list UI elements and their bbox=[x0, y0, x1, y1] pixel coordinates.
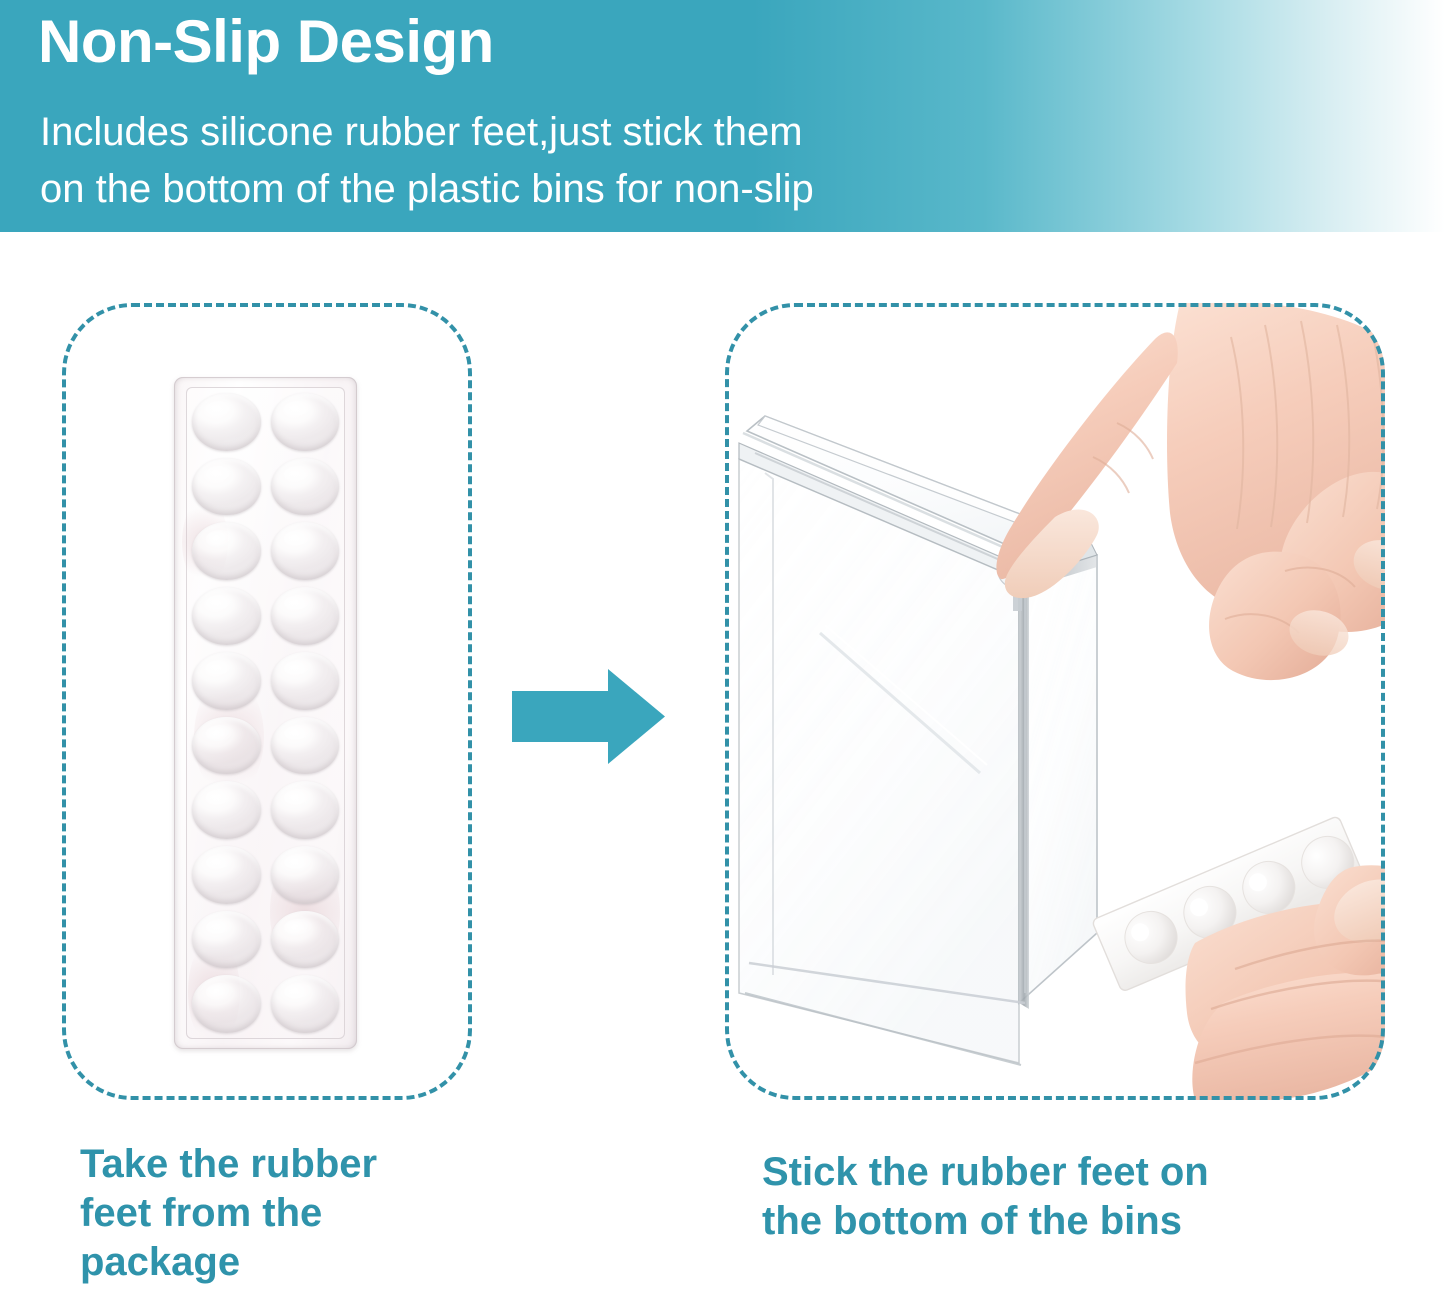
rubber-foot bbox=[271, 587, 340, 645]
rubber-foot bbox=[192, 846, 261, 904]
step-1-caption-line-3: package bbox=[80, 1238, 510, 1287]
step-1-caption-line-2: feet from the bbox=[80, 1189, 510, 1238]
rubber-foot bbox=[192, 975, 261, 1033]
rubber-foot bbox=[192, 781, 261, 839]
header-subtitle-line-1: Includes silicone rubber feet,just stick… bbox=[40, 104, 814, 161]
step-1-caption: Take the rubber feet from the package bbox=[80, 1140, 510, 1286]
step-2-caption-line-1: Stick the rubber feet on bbox=[762, 1148, 1402, 1197]
rubber-foot bbox=[192, 717, 261, 775]
rubber-foot bbox=[271, 975, 340, 1033]
step-2-panel bbox=[725, 303, 1385, 1100]
rubber-foot bbox=[271, 717, 340, 775]
rubber-foot bbox=[192, 652, 261, 710]
step-2-caption-line-2: the bottom of the bins bbox=[762, 1197, 1402, 1246]
header-banner: Non-Slip Design Includes silicone rubber… bbox=[0, 0, 1445, 232]
rubber-foot bbox=[271, 652, 340, 710]
rubber-foot bbox=[192, 458, 261, 516]
step-2-caption: Stick the rubber feet on the bottom of t… bbox=[762, 1148, 1402, 1246]
rubber-foot bbox=[271, 846, 340, 904]
step-1-caption-line-1: Take the rubber bbox=[80, 1140, 510, 1189]
rubber-foot bbox=[271, 911, 340, 969]
rubber-foot bbox=[192, 911, 261, 969]
page-title: Non-Slip Design bbox=[38, 10, 494, 73]
rubber-foot bbox=[192, 522, 261, 580]
rubber-foot bbox=[192, 393, 261, 451]
header-subtitle: Includes silicone rubber feet,just stick… bbox=[40, 104, 814, 218]
rubber-feet-grid bbox=[190, 391, 341, 1035]
rubber-foot bbox=[271, 458, 340, 516]
rubber-foot bbox=[271, 781, 340, 839]
arrow-right-icon bbox=[512, 669, 665, 764]
rubber-foot bbox=[271, 522, 340, 580]
rubber-foot bbox=[271, 393, 340, 451]
header-subtitle-line-2: on the bottom of the plastic bins for no… bbox=[40, 161, 814, 218]
rubber-foot bbox=[192, 587, 261, 645]
rubber-feet-blister-strip bbox=[174, 377, 357, 1049]
